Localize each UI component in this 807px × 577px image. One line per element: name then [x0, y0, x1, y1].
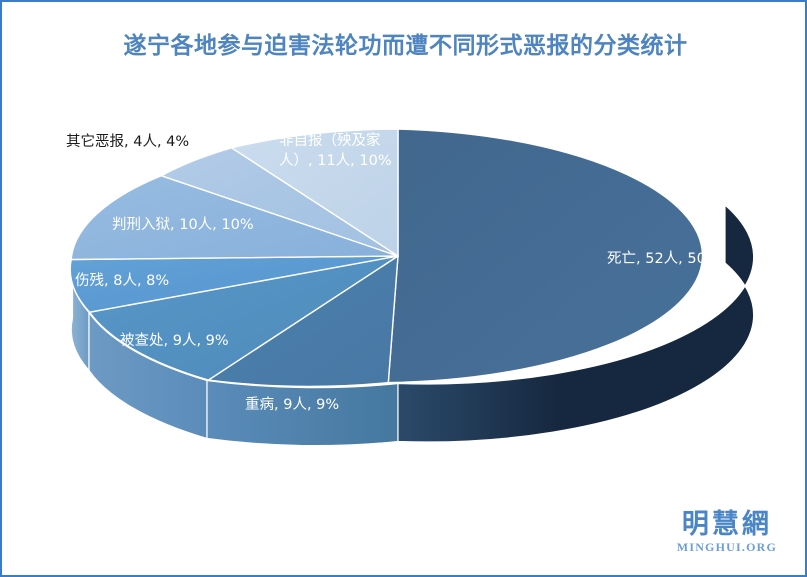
logo-chinese-text: 明慧網 [677, 511, 777, 538]
pie-chart-3d [2, 2, 807, 577]
pie-slice-siwang [388, 129, 702, 383]
logo-english-text: MINGHUI.ORG [677, 541, 777, 553]
pie-top-face [70, 129, 702, 386]
minghui-logo: 明慧網 MINGHUI.ORG [677, 511, 777, 553]
pie-side-zhongbing [207, 381, 398, 446]
chart-frame: 遂宁各地参与迫害法轮功而遭不同形式恶报的分类统计 [0, 0, 807, 577]
